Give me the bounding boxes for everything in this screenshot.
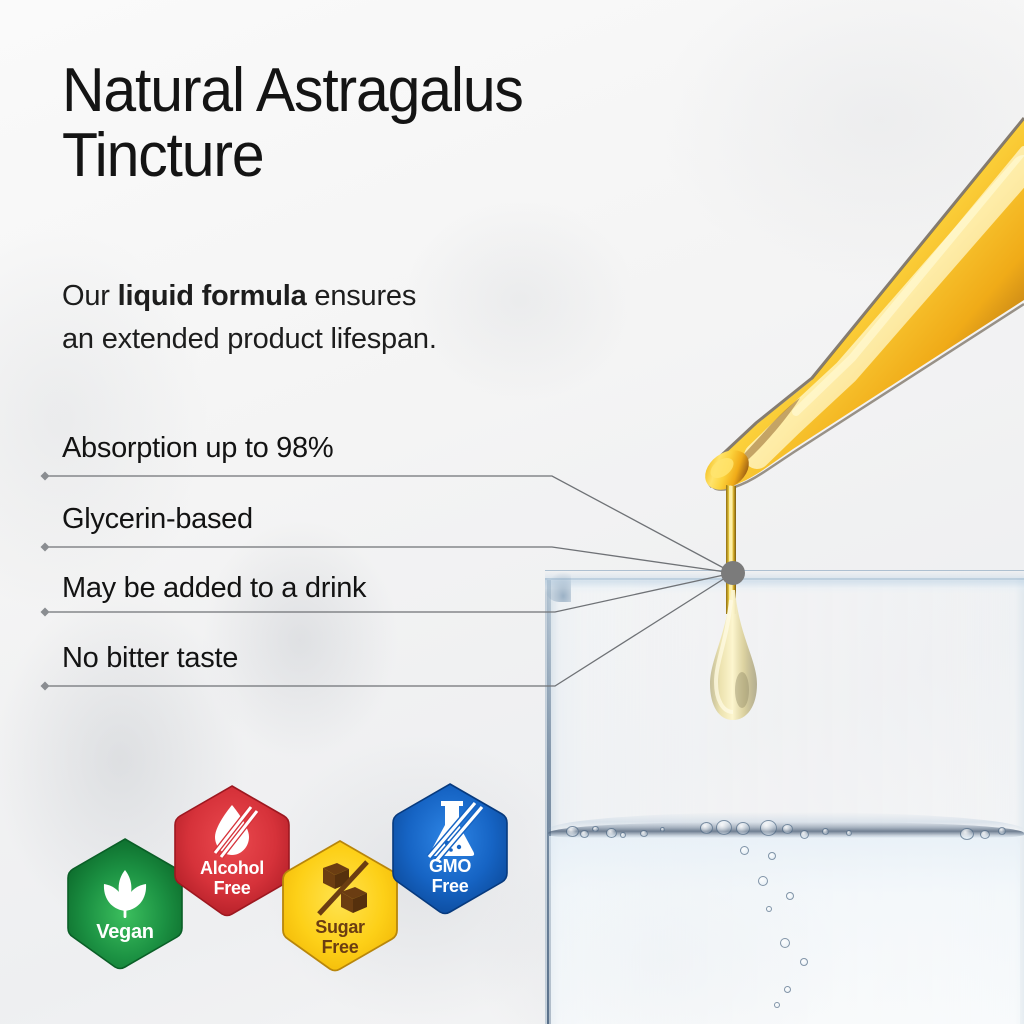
callout-line-2 <box>41 573 734 617</box>
alcohol-free-label-2: Free <box>171 879 293 897</box>
callout-line-1 <box>41 543 734 574</box>
diamond-marker-0 <box>41 472 50 481</box>
diamond-marker-2 <box>41 608 50 617</box>
diamond-marker-1 <box>41 543 50 552</box>
alcohol-free-label-1: Alcohol <box>171 859 293 877</box>
gmo-free-label-1: GMO <box>389 857 511 875</box>
alcohol-free-label-group: Alcohol Free <box>171 859 293 897</box>
diamond-marker-3 <box>41 682 50 691</box>
gmo-free-label-group: GMO Free <box>389 857 511 895</box>
vegan-label: Vegan <box>64 922 186 942</box>
callout-line-3 <box>41 573 734 691</box>
product-marketing-image: Natural Astragalus Tincture Our liquid f… <box>0 0 1024 1024</box>
badge-vegan: Vegan <box>64 836 186 970</box>
gmo-free-label-2: Free <box>389 877 511 895</box>
sugar-free-label-2: Free <box>279 938 401 956</box>
badge-alcohol-free: Alcohol Free <box>171 783 293 917</box>
leaf-icon <box>64 836 186 970</box>
badge-sugar-free: Sugar Free <box>279 838 401 972</box>
sugar-free-label-1: Sugar <box>279 918 401 936</box>
badge-gmo-free: GMO Free <box>389 781 511 915</box>
callout-focus-point <box>721 561 745 585</box>
vegan-label-group: Vegan <box>64 922 186 942</box>
sugar-free-label-group: Sugar Free <box>279 918 401 956</box>
